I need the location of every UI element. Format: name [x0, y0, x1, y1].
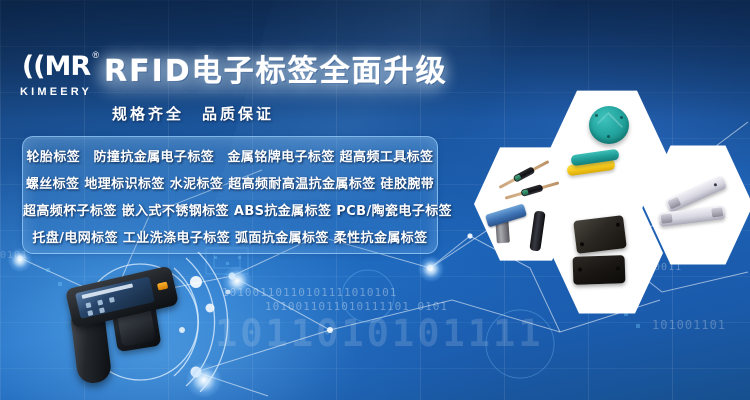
tag-row: 轮胎标签 防撞抗金属电子标签 金属铭牌电子标签 超高频工具标签: [23, 144, 437, 171]
kimeery-logo[interactable]: ((MR ® KIMEERY: [12, 52, 100, 108]
rfid-product-banner: 10100110110101111010101 1010011011010111…: [0, 0, 750, 400]
screen-app-icon: [97, 300, 103, 306]
screen-app-icon: [109, 297, 115, 303]
disc-hole: [607, 135, 610, 138]
tag-hole: [578, 268, 582, 272]
company-name: KIMEERY: [12, 86, 100, 98]
tag-pad: [711, 207, 723, 217]
page-title: RFID电子标签全面升级: [104, 50, 448, 94]
tag-row: 超高频杯子标签 嵌入式不锈钢标签 ABS抗金属标签 PCB/陶瓷电子标签: [23, 198, 437, 225]
teal-disc-tag: [589, 106, 629, 144]
abs-anti-metal-tag: [573, 255, 626, 285]
reader-trigger-button: [157, 282, 168, 291]
tube-chip: [520, 184, 543, 197]
glass-tube-tag: [505, 181, 560, 199]
glow-dot: [418, 256, 444, 282]
glass-tube-tag: [499, 160, 550, 189]
reader-screen: [75, 276, 155, 318]
disc-hole: [595, 114, 598, 117]
screen-app-icon: [85, 302, 91, 308]
tag-hole: [616, 266, 620, 270]
page-subtitle: 规格齐全 品质保证: [112, 103, 274, 124]
screen-status-bar: [82, 283, 134, 299]
tag-row: 螺丝标签 地理标识标签 水泥标签 超高频耐高温抗金属标签 硅胶腕带: [23, 171, 437, 198]
registered-trademark-icon: ®: [92, 50, 99, 60]
screen-app-icon: [99, 307, 105, 313]
logo-mark: ((MR: [12, 52, 100, 82]
tag-pad: [661, 213, 673, 223]
screen-app-icon: [87, 310, 93, 316]
abs-anti-metal-tag: [573, 215, 627, 254]
handheld-rfid-reader: [50, 275, 210, 395]
cylinder-tag: [529, 210, 545, 251]
headline-block: RFID电子标签全面升级: [104, 50, 448, 94]
tag-row: 托盘/电网标签 工业洗涤电子标签 弧面抗金属标签 柔性抗金属标签: [23, 225, 437, 252]
disc-hole: [620, 116, 623, 119]
product-tag-list-panel: 轮胎标签 防撞抗金属电子标签 金属铭牌电子标签 超高频工具标签 螺丝标签 地理标…: [22, 136, 438, 254]
tube-chip: [513, 166, 536, 183]
tag-pad: [667, 197, 681, 210]
tag-hole: [616, 223, 620, 227]
tag-hole: [580, 242, 584, 246]
tag-pin: [713, 183, 717, 187]
binary-text: 101001101: [652, 318, 726, 332]
